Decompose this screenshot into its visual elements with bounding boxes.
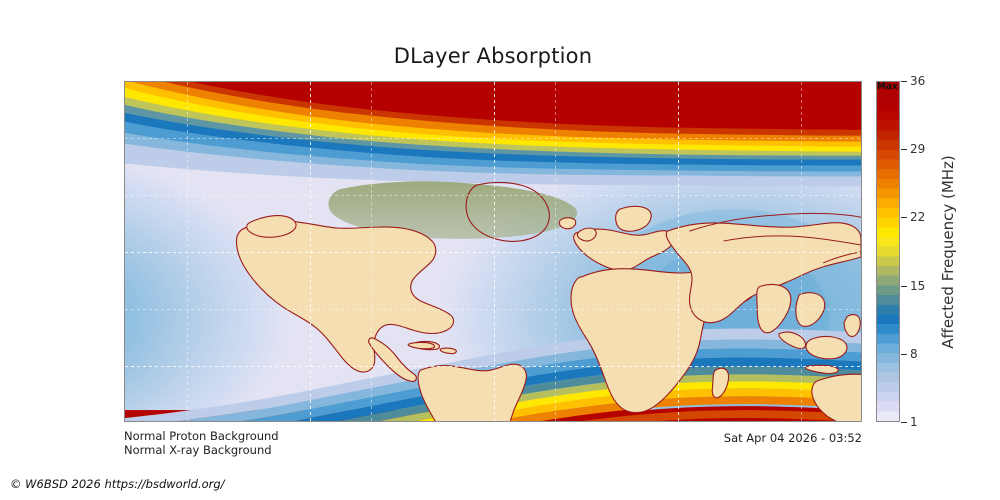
copyright-notice: © W6BSD 2026 https://bsdworld.org/	[10, 477, 225, 491]
colorbar[interactable]	[876, 81, 900, 422]
colorbar-max-marker: Max	[877, 82, 898, 92]
colorbar-tick-mark	[901, 217, 907, 218]
land-iceland	[559, 218, 575, 229]
north-auroral-zone	[125, 82, 861, 186]
page-title: DLayer Absorption	[124, 44, 862, 68]
colorbar-tick-label: 15	[910, 279, 925, 293]
background-notes: Normal Proton Background Normal X-ray Ba…	[124, 429, 279, 457]
colorbar-gradient	[877, 82, 899, 421]
colorbar-tick-mark	[901, 149, 907, 150]
world-map[interactable]	[124, 81, 862, 422]
gridline-lat-30n	[125, 195, 861, 196]
gridline-lat-30s	[125, 309, 861, 310]
colorbar-axis-label-text: Affected Frequency (MHz)	[939, 155, 957, 349]
proton-background-note: Normal Proton Background	[124, 429, 279, 443]
colorbar-axis-label: Affected Frequency (MHz)	[938, 81, 958, 422]
colorbar-tick-mark	[901, 286, 907, 287]
colorbar-tick-label: 1	[910, 415, 918, 429]
colorbar-tick-mark	[901, 422, 907, 423]
dlayer-absorption-figure: DLayer Absorption	[0, 0, 1000, 500]
land-philippines	[844, 315, 860, 337]
colorbar-tick-label: 8	[910, 347, 918, 361]
colorbar-tick-mark	[901, 81, 907, 82]
gridline-lat-0	[125, 252, 861, 253]
colorbar-tick-label: 22	[910, 210, 925, 224]
colorbar-tick-mark	[901, 354, 907, 355]
colorbar-tick-label: 29	[910, 142, 925, 156]
colorbar-tick-label: 36	[910, 74, 925, 88]
land-south-america	[418, 364, 526, 421]
timestamp: Sat Apr 04 2026 - 03:52	[724, 431, 862, 445]
gridline-lat-60s	[125, 366, 861, 367]
gridline-lat-60n	[125, 138, 861, 139]
xray-background-note: Normal X-ray Background	[124, 443, 279, 457]
